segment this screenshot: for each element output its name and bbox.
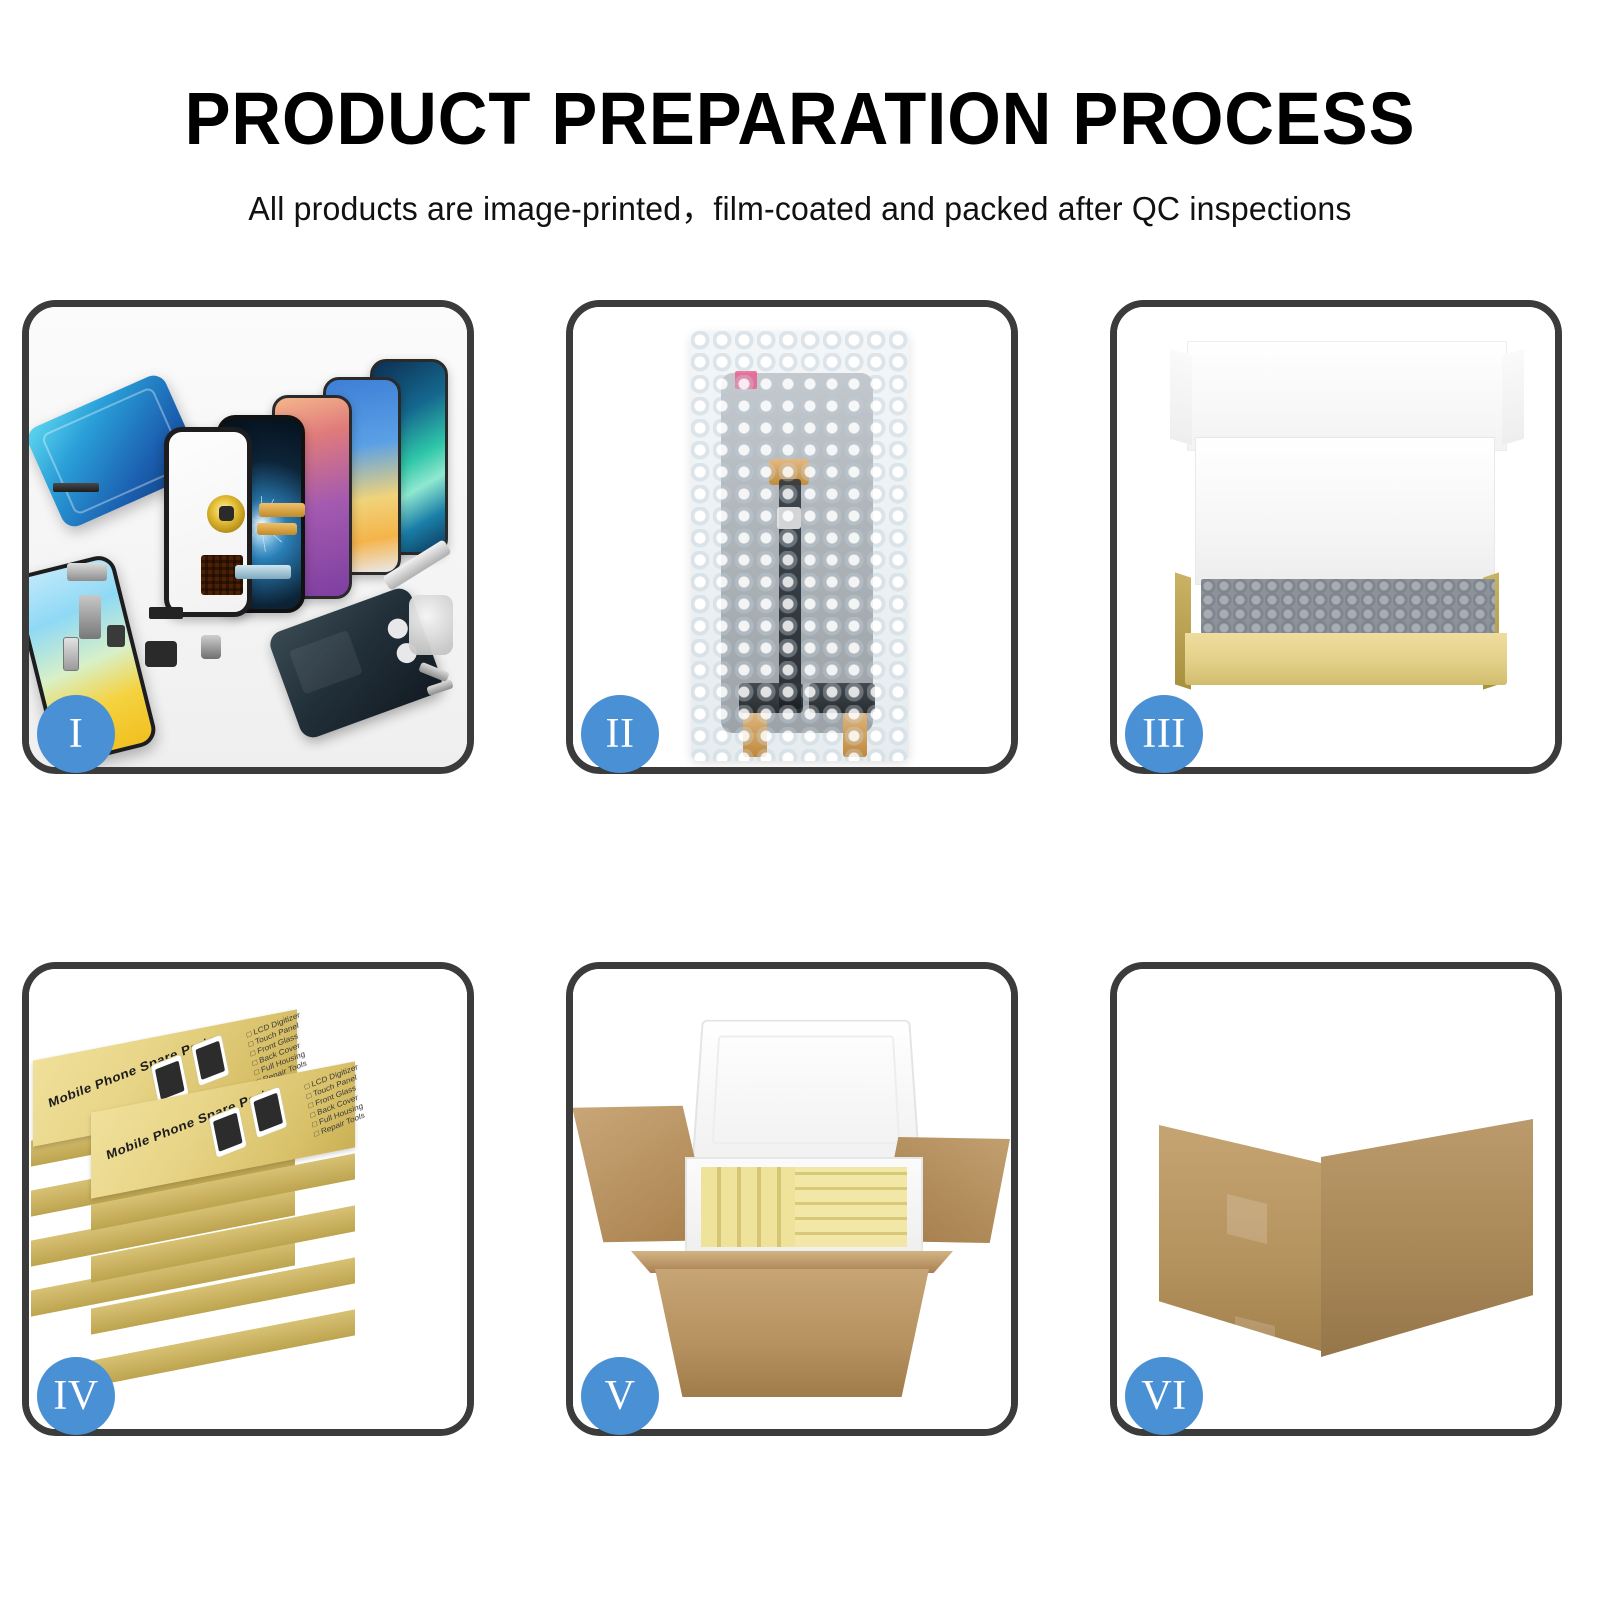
box-front-panel: [1185, 633, 1507, 685]
box-checklist: LCD Digitizer Touch Panel Front Glass Ba…: [304, 1062, 369, 1139]
step-badge-5: V: [581, 1357, 659, 1435]
step-panel-2: II: [566, 300, 1018, 774]
step-6-image: [1117, 969, 1555, 1429]
cleaning-brush-part: [409, 595, 453, 655]
connector-block-right: [809, 683, 875, 713]
copper-tab-left: [743, 713, 767, 757]
packed-retail-boxes: [701, 1167, 907, 1247]
steps-grid: I: [0, 0, 1600, 1600]
step-badge-4: IV: [37, 1357, 115, 1435]
step-panel-5: V: [566, 962, 1018, 1436]
step-badge-1: I: [37, 695, 115, 773]
bubble-padding-layer: [1201, 579, 1495, 637]
step-4-image: Mobile Phone Spare Parts LCD Digitizer T…: [29, 969, 467, 1429]
earpiece-mesh-part: [53, 483, 99, 492]
retail-box-padding-scene: [1117, 307, 1555, 767]
step-5-image: [573, 969, 1011, 1429]
phone-parts-scene: [29, 307, 467, 767]
step-panel-4: Mobile Phone Spare Parts LCD Digitizer T…: [22, 962, 474, 1436]
foam-lid-open: [692, 1020, 921, 1163]
copper-tab-right: [843, 713, 867, 757]
carton-right-face: [1321, 1119, 1533, 1357]
sim-tray-part: [63, 637, 79, 671]
carton-body: [655, 1269, 929, 1397]
sealed-carton-scene: [1117, 969, 1555, 1429]
step-badge-2: II: [581, 695, 659, 773]
step-3-image: [1117, 307, 1555, 767]
step-badge-6: VI: [1125, 1357, 1203, 1435]
connector-part-2: [145, 641, 177, 667]
step-panel-3: III: [1110, 300, 1562, 774]
camera-module-part: [201, 635, 221, 659]
flex-cable-part-4: [67, 563, 107, 581]
flex-cable-part-1: [259, 503, 305, 517]
box-lid-white: [1187, 341, 1507, 451]
stacked-boxes-scene: Mobile Phone Spare Parts LCD Digitizer T…: [29, 969, 467, 1429]
flex-cable-part-3: [235, 565, 291, 579]
foam-sheet: [1195, 437, 1495, 585]
carton-foam-scene: [573, 969, 1011, 1429]
step-badge-3: III: [1125, 695, 1203, 773]
pink-label-sticker: [735, 371, 757, 389]
step-2-image: [573, 307, 1011, 767]
driver-chip: [777, 507, 801, 529]
bubble-wrap-scene: [573, 307, 1011, 767]
speaker-coil-part: [207, 495, 245, 533]
bubble-wrap-package: [691, 331, 909, 761]
connector-part-1: [149, 607, 183, 619]
step-panel-6: VI: [1110, 962, 1562, 1436]
connector-block-left: [739, 683, 803, 713]
flex-cable-part-5: [79, 595, 101, 639]
step-panel-1: I: [22, 300, 474, 774]
connector-part-3: [107, 625, 125, 647]
infographic-root: PRODUCT PREPARATION PROCESS All products…: [0, 0, 1600, 1600]
step-1-image: [29, 307, 467, 767]
flex-cable-part-2: [257, 523, 297, 535]
